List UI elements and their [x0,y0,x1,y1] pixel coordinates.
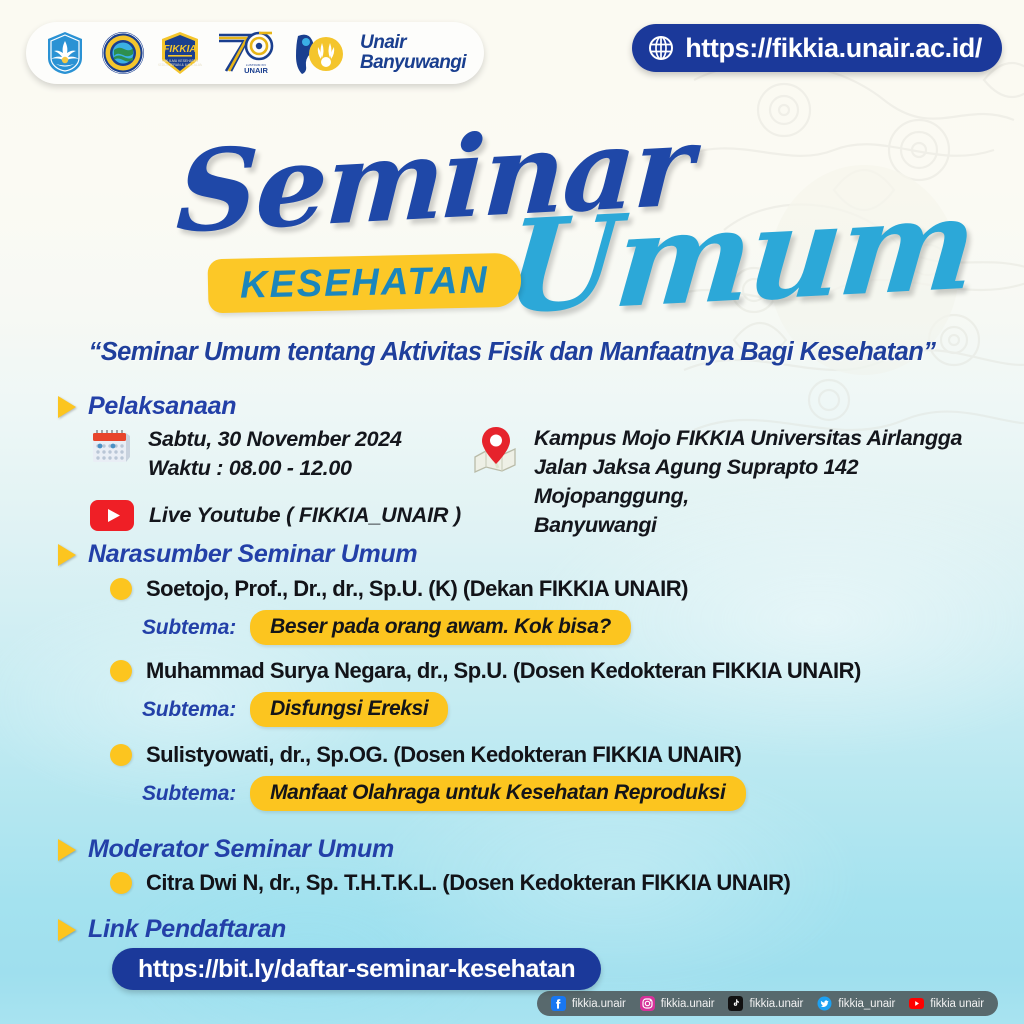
youtube-live-text: Live Youtube ( FIKKIA_UNAIR ) [149,503,461,528]
speaker-item: Soetojo, Prof., Dr., dr., Sp.U. (K) (Dek… [110,576,990,645]
poster-subtitle: “Seminar Umum tentang Aktivitas Fisik da… [0,338,1024,367]
bullet-dot-icon [110,872,132,894]
triangle-bullet-icon [58,839,76,861]
venue-line-1: Kampus Mojo FIKKIA Universitas Airlangga [534,424,1010,453]
logo-text-unair: Unair [360,33,466,53]
speaker-name: Muhammad Surya Negara, dr., Sp.U. (Dosen… [146,658,861,684]
institution-logo-bar: FIKKIA FAK ILMU KESEHATAN KEDOKTERAN & I… [26,22,484,84]
globe-icon [648,35,674,61]
subtema-value: Beser pada orang awam. Kok bisa? [250,610,631,645]
calendar-icon [88,425,132,469]
twitter-icon [817,996,832,1011]
speaker-name-row: Sulistyowati, dr., Sp.OG. (Dosen Kedokte… [110,742,990,768]
svg-text:KEDOKTERAN & ILMU ALAM: KEDOKTERAN & ILMU ALAM [158,63,202,67]
social-handle-youtube: fikkia unair [930,998,984,1010]
venue-line-3: Banyuwangi [534,511,1010,540]
registration-link-button[interactable]: https://bit.ly/daftar-seminar-kesehatan [112,948,601,990]
speaker-name-row: Muhammad Surya Negara, dr., Sp.U. (Dosen… [110,658,990,684]
subtema-value: Disfungsi Ereksi [250,692,448,727]
svg-text:UNAIR: UNAIR [244,66,268,75]
social-media-bar: fikkia.unair fikkia.unair fikkia.unair [537,991,998,1016]
venue-block: Kampus Mojo FIKKIA Universitas Airlangga… [470,424,1010,540]
section-heading-narasumber-label: Narasumber Seminar Umum [88,540,417,569]
svg-text:FIKKIA: FIKKIA [163,44,196,55]
speaker-name: Soetojo, Prof., Dr., dr., Sp.U. (K) (Dek… [146,576,688,602]
triangle-bullet-icon [58,919,76,941]
social-item-youtube[interactable]: fikkia unair [909,996,984,1011]
triangle-bullet-icon [58,544,76,566]
speaker-subtema-row: Subtema: Manfaat Olahraga untuk Kesehata… [142,776,990,811]
fikkia-logo: FIKKIA FAK ILMU KESEHATAN KEDOKTERAN & I… [158,30,202,76]
speaker-name: Sulistyowati, dr., Sp.OG. (Dosen Kedokte… [146,742,741,768]
section-heading-moderator-label: Moderator Seminar Umum [88,835,394,864]
unair-70-anniversary-logo: LUSTRUM XIV UNAIR [214,29,276,77]
moderator-name-row: Citra Dwi N, dr., Sp. T.H.T.K.L. (Dosen … [110,870,790,896]
website-url-badge[interactable]: https://fikkia.unair.ac.id/ [632,24,1002,72]
social-item-instagram[interactable]: fikkia.unair [640,996,715,1011]
social-handle-facebook: fikkia.unair [572,998,626,1010]
registration-link-text: https://bit.ly/daftar-seminar-kesehatan [138,955,575,984]
social-item-facebook[interactable]: fikkia.unair [551,996,626,1011]
speaker-subtema-row: Subtema: Beser pada orang awam. Kok bisa… [142,610,990,645]
title-badge-label: KESEHATAN [240,259,490,307]
bullet-dot-icon [110,578,132,600]
facebook-icon [551,996,566,1011]
triangle-bullet-icon [58,396,76,418]
logo-text-banyuwangi: Banyuwangi [360,53,466,73]
section-heading-link-pendaftaran-label: Link Pendaftaran [88,915,286,944]
bullet-dot-icon [110,660,132,682]
title-badge-kesehatan: KESEHATAN [207,253,521,314]
event-time: Waktu : 08.00 - 12.00 [148,454,402,483]
title-word-umum: Umum [501,180,979,332]
speaker-item: Muhammad Surya Negara, dr., Sp.U. (Dosen… [110,658,990,727]
youtube-icon [909,996,924,1011]
map-pin-icon [470,424,520,474]
speaker-item: Sulistyowati, dr., Sp.OG. (Dosen Kedokte… [110,742,990,811]
subtema-label: Subtema: [142,698,236,722]
tiktok-icon [728,996,743,1011]
unair-banyuwangi-10-logo [288,30,346,76]
social-handle-tiktok: fikkia.unair [749,998,803,1010]
subtema-label: Subtema: [142,782,236,806]
seminar-poster: FIKKIA FAK ILMU KESEHATAN KEDOKTERAN & I… [0,0,1024,1024]
website-url-text: https://fikkia.unair.ac.id/ [685,33,982,64]
social-item-twitter[interactable]: fikkia_unair [817,996,895,1011]
bullet-dot-icon [110,744,132,766]
speaker-name-row: Soetojo, Prof., Dr., dr., Sp.U. (K) (Dek… [110,576,990,602]
section-heading-moderator: Moderator Seminar Umum [58,835,394,864]
section-heading-pelaksanaan: Pelaksanaan [58,392,236,421]
instagram-icon [640,996,655,1011]
youtube-icon [89,499,135,532]
section-heading-link-pendaftaran: Link Pendaftaran [58,915,286,944]
speaker-subtema-row: Subtema: Disfungsi Ereksi [142,692,990,727]
social-item-tiktok[interactable]: fikkia.unair [728,996,803,1011]
social-handle-instagram: fikkia.unair [661,998,715,1010]
kemendikbud-tut-wuri-handayani-logo [42,30,88,76]
venue-line-2: Jalan Jaksa Agung Suprapto 142 Mojopangg… [534,453,1010,511]
section-heading-pelaksanaan-label: Pelaksanaan [88,392,236,421]
subtema-label: Subtema: [142,616,236,640]
subtema-value: Manfaat Olahraga untuk Kesehatan Reprodu… [250,776,745,811]
social-handle-twitter: fikkia_unair [838,998,895,1010]
moderator-name: Citra Dwi N, dr., Sp. T.H.T.K.L. (Dosen … [146,870,790,896]
section-heading-narasumber: Narasumber Seminar Umum [58,540,417,569]
event-date: Sabtu, 30 November 2024 [148,425,402,454]
universitas-airlangga-logo [100,30,146,76]
